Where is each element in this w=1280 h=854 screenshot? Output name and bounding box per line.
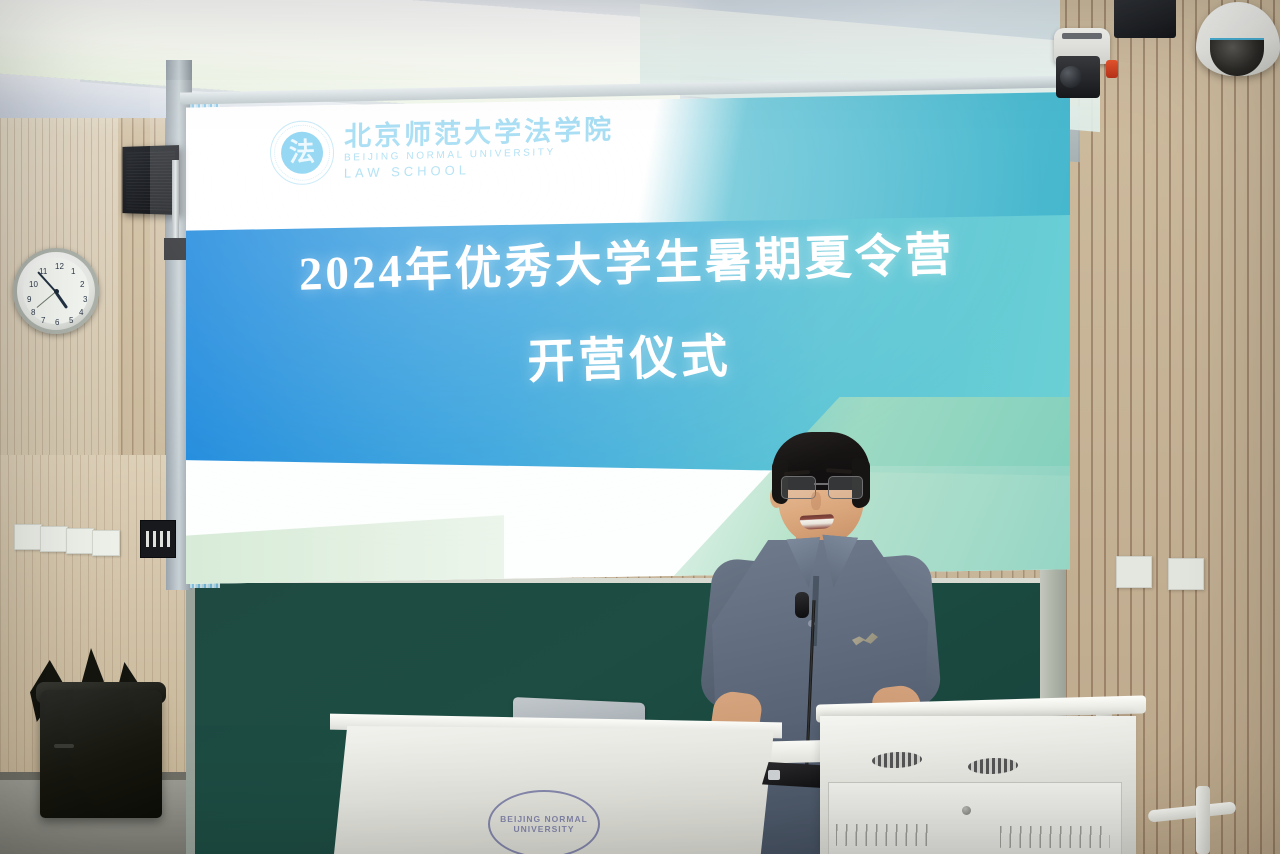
clock-second-hand	[37, 291, 57, 308]
av-rack-vent	[836, 824, 932, 846]
dome-camera-lens	[1210, 38, 1264, 76]
clock-numeral: 7	[41, 316, 45, 325]
podium-university-seal-icon: BEIJING NORMAL UNIVERSITY	[488, 790, 600, 854]
slide-logo-text: 北京师范大学法学院 BEIJING NORMAL UNIVERSITY LAW …	[344, 115, 614, 180]
eyeglass-bridge	[814, 483, 828, 485]
switch-rocker[interactable]	[167, 531, 170, 547]
wall-plate[interactable]	[40, 526, 68, 552]
rack-speaker-grill	[872, 751, 922, 769]
switch-rocker[interactable]	[153, 531, 156, 547]
bullet-camera-lens	[1060, 66, 1082, 88]
clock-numeral: 8	[31, 308, 35, 317]
presenter-nose	[811, 492, 821, 510]
slide-institution-logo: 法 北京师范大学法学院 BEIJING NORMAL UNIVERSITY LA…	[269, 112, 615, 185]
microphone-base-switch[interactable]	[768, 770, 780, 780]
wall-outlet[interactable]	[1168, 558, 1204, 590]
clock-hour-hand	[55, 292, 68, 309]
switch-rocker[interactable]	[160, 531, 163, 547]
bnu-law-seal-icon: 法	[269, 120, 335, 186]
clock-numeral: 5	[69, 316, 73, 325]
camera-status-led	[1106, 60, 1118, 78]
wall-outlet[interactable]	[1116, 556, 1152, 588]
clock-numeral: 1	[71, 267, 75, 276]
wall-speaker-left-icon	[122, 145, 179, 215]
eyeglasses-icon	[779, 476, 865, 498]
trash-bin	[40, 690, 162, 818]
av-rack-vent	[1000, 826, 1110, 848]
wall-plate[interactable]	[66, 528, 94, 554]
wall-plate[interactable]	[92, 530, 120, 556]
clock-numeral: 2	[80, 280, 84, 289]
clock-face: 12 1 2 3 4 5 6 7 8 9 10 11	[23, 258, 89, 324]
institution-name-cn: 北京师范大学法学院	[344, 115, 614, 151]
wall-speaker-right-icon	[1114, 0, 1176, 38]
clock-numeral: 3	[83, 295, 87, 304]
slide-title-block: 2024年优秀大学生暑期夏令营 开营仪式	[184, 212, 1072, 402]
bullet-camera-slot	[1062, 33, 1102, 39]
trash-bin-handle[interactable]	[54, 744, 74, 748]
wall-plate[interactable]	[14, 524, 42, 550]
switch-rocker[interactable]	[146, 531, 149, 547]
microphone-head-icon	[795, 592, 809, 618]
wall-clock: 12 1 2 3 4 5 6 7 8 9 10 11	[13, 248, 99, 334]
blackboard-frame-left	[186, 578, 195, 854]
screen-mount-bracket	[164, 238, 186, 260]
clock-numeral: 4	[79, 308, 83, 317]
chair-post	[1196, 786, 1210, 854]
light-switch-panel[interactable]	[140, 520, 176, 558]
clock-numeral: 9	[27, 295, 31, 304]
eyeglass-lens	[828, 476, 863, 499]
screen-mount-pole	[172, 160, 179, 242]
clock-center-pin	[54, 289, 59, 294]
seal-ring	[273, 124, 330, 181]
clock-numeral: 12	[55, 262, 64, 271]
clock-numeral: 6	[55, 318, 59, 327]
clock-numeral: 10	[29, 280, 38, 289]
lecture-hall-photo: 法 北京师范大学法学院 BEIJING NORMAL UNIVERSITY LA…	[0, 0, 1280, 854]
speaker-grill	[126, 149, 175, 210]
rack-speaker-grill	[968, 757, 1018, 775]
podium-seal-text: BEIJING NORMAL UNIVERSITY	[490, 814, 598, 834]
av-rack-lock-icon[interactable]	[962, 806, 971, 815]
